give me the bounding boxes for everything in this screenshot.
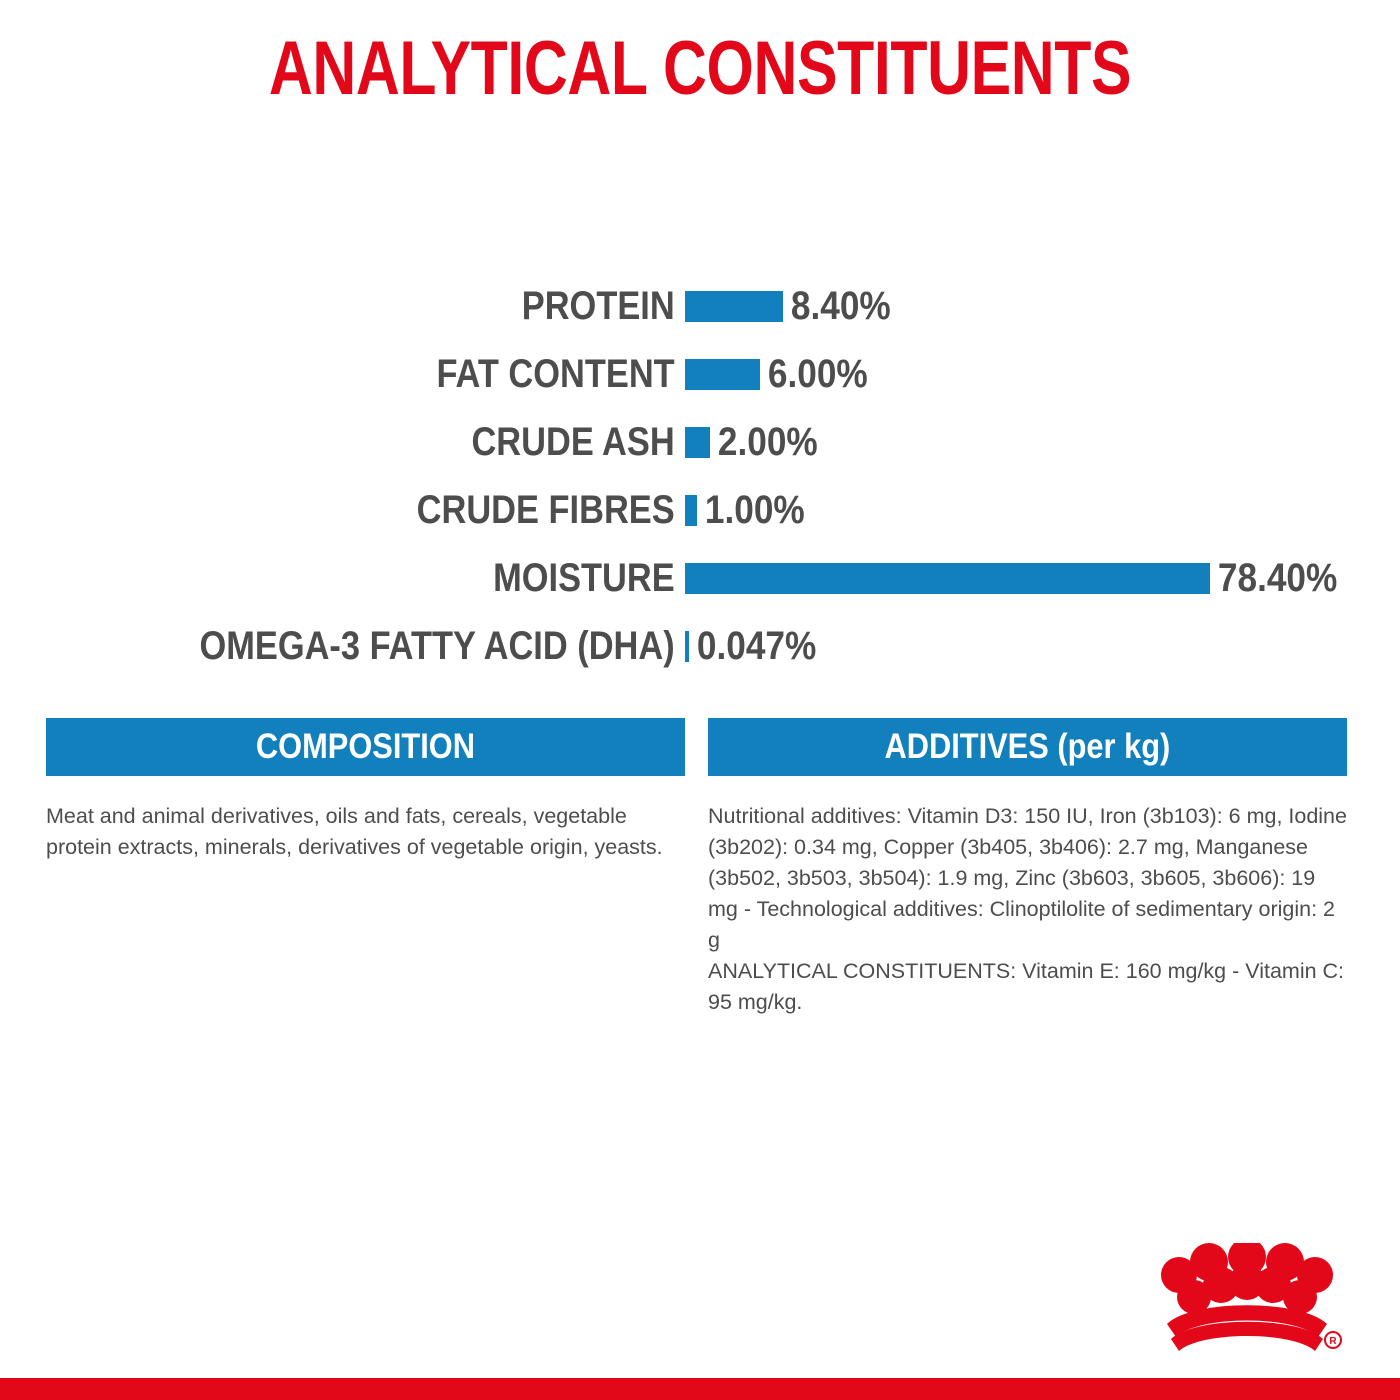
chart-row-bar-area: 2.00%: [685, 420, 1400, 464]
info-panels: COMPOSITION Meat and animal derivatives,…: [46, 718, 1354, 1018]
analytical-constituents-page: ANALYTICAL CONSTITUENTS PROTEIN8.40%FAT …: [0, 0, 1400, 1400]
bottom-red-strip: [0, 1378, 1400, 1400]
chart-row-value: 0.047%: [689, 624, 816, 668]
svg-text:R: R: [1329, 1336, 1337, 1347]
chart-row-bar-area: 1.00%: [685, 488, 1400, 532]
chart-row-value: 8.40%: [783, 284, 891, 328]
additives-header: ADDITIVES (per kg): [708, 718, 1347, 776]
chart-row: MOISTURE78.40%: [0, 544, 1400, 612]
chart-row-label: CRUDE ASH: [96, 420, 685, 464]
chart-row-bar-area: 0.047%: [685, 624, 1400, 668]
chart-row-label: OMEGA-3 FATTY ACID (DHA): [96, 624, 685, 668]
chart-bar: [685, 359, 760, 390]
chart-row-value: 6.00%: [760, 352, 868, 396]
chart-bar: [685, 495, 697, 526]
composition-header-label: COMPOSITION: [256, 727, 475, 767]
chart-row-label: CRUDE FIBRES: [96, 488, 685, 532]
chart-row-label: FAT CONTENT: [96, 352, 685, 396]
chart-row-value: 78.40%: [1210, 556, 1337, 600]
chart-row: CRUDE ASH2.00%: [0, 408, 1400, 476]
chart-row-value: 2.00%: [710, 420, 818, 464]
chart-bar: [685, 291, 783, 322]
chart-row-bar-area: 8.40%: [685, 284, 1400, 328]
chart-row-label: PROTEIN: [96, 284, 685, 328]
composition-panel: COMPOSITION Meat and animal derivatives,…: [46, 718, 685, 1018]
chart-row: CRUDE FIBRES1.00%: [0, 476, 1400, 544]
chart-row: FAT CONTENT6.00%: [0, 340, 1400, 408]
constituents-bar-chart: PROTEIN8.40%FAT CONTENT6.00%CRUDE ASH2.0…: [0, 272, 1400, 680]
composition-header: COMPOSITION: [46, 718, 685, 776]
chart-row-bar-area: 78.40%: [685, 556, 1400, 600]
chart-bar: [685, 427, 710, 458]
additives-header-label: ADDITIVES (per kg): [885, 727, 1171, 767]
chart-row: OMEGA-3 FATTY ACID (DHA)0.047%: [0, 612, 1400, 680]
chart-row: PROTEIN8.40%: [0, 272, 1400, 340]
additives-body-text: Nutritional additives: Vitamin D3: 150 I…: [708, 776, 1347, 1018]
chart-bar: [685, 563, 1210, 594]
chart-row-label: MOISTURE: [96, 556, 685, 600]
royal-canin-crown-icon: R: [1147, 1243, 1347, 1361]
composition-body-text: Meat and animal derivatives, oils and fa…: [46, 776, 685, 863]
page-title: ANALYTICAL CONSTITUENTS: [140, 26, 1260, 112]
chart-row-value: 1.00%: [697, 488, 805, 532]
additives-panel: ADDITIVES (per kg) Nutritional additives…: [708, 718, 1347, 1018]
chart-row-bar-area: 6.00%: [685, 352, 1400, 396]
